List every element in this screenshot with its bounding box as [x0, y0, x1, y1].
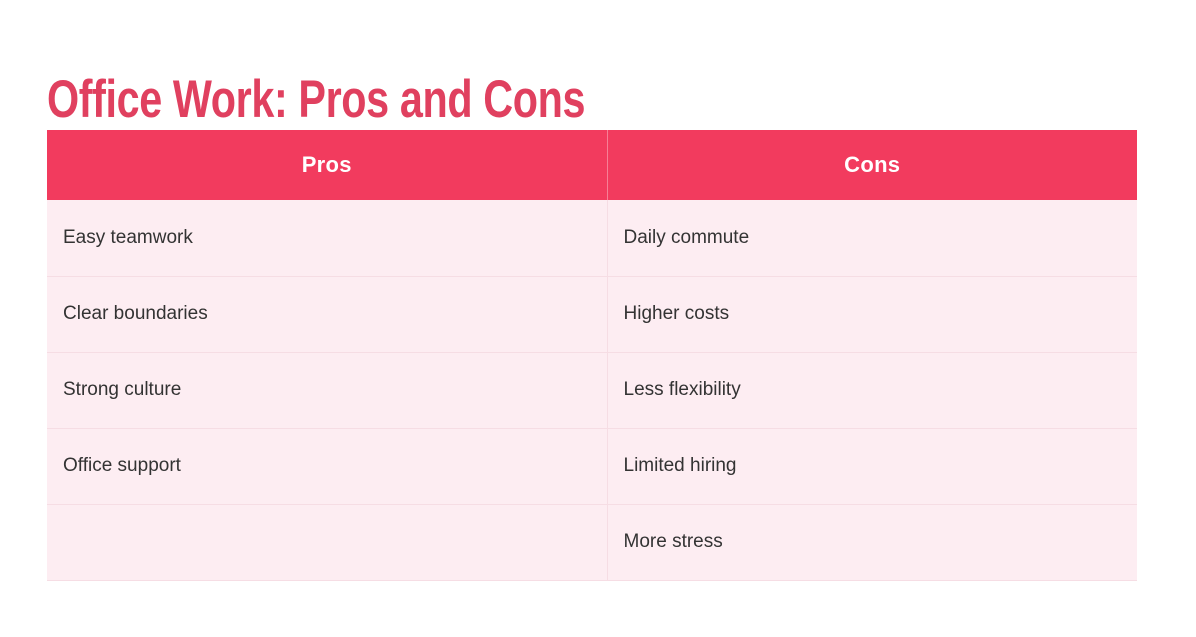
- table-header-row: Pros Cons: [47, 130, 1137, 200]
- cell-cons: More stress: [607, 504, 1137, 580]
- table-row: Easy teamwork Daily commute: [47, 200, 1137, 276]
- slide-canvas: Office Work: Pros and Cons Pros Cons Eas…: [0, 0, 1196, 637]
- page-title: Office Work: Pros and Cons: [47, 67, 897, 133]
- cell-pros-empty: [47, 504, 607, 580]
- column-header-pros[interactable]: Pros: [47, 130, 607, 200]
- cell-pros: Clear boundaries: [47, 276, 607, 352]
- table-row: Office support Limited hiring: [47, 428, 1137, 504]
- cell-cons: Limited hiring: [607, 428, 1137, 504]
- table-row: Strong culture Less flexibility: [47, 352, 1137, 428]
- cell-cons: Less flexibility: [607, 352, 1137, 428]
- table-row: More stress: [47, 504, 1137, 580]
- cell-pros: Easy teamwork: [47, 200, 607, 276]
- column-header-cons[interactable]: Cons: [607, 130, 1137, 200]
- cell-pros: Strong culture: [47, 352, 607, 428]
- pros-cons-table: Pros Cons Easy teamwork Daily commute Cl…: [47, 130, 1137, 581]
- table-header: Pros Cons: [47, 130, 1137, 200]
- table-body: Easy teamwork Daily commute Clear bounda…: [47, 200, 1137, 580]
- cell-pros: Office support: [47, 428, 607, 504]
- table-row: Clear boundaries Higher costs: [47, 276, 1137, 352]
- cell-cons: Higher costs: [607, 276, 1137, 352]
- cell-cons: Daily commute: [607, 200, 1137, 276]
